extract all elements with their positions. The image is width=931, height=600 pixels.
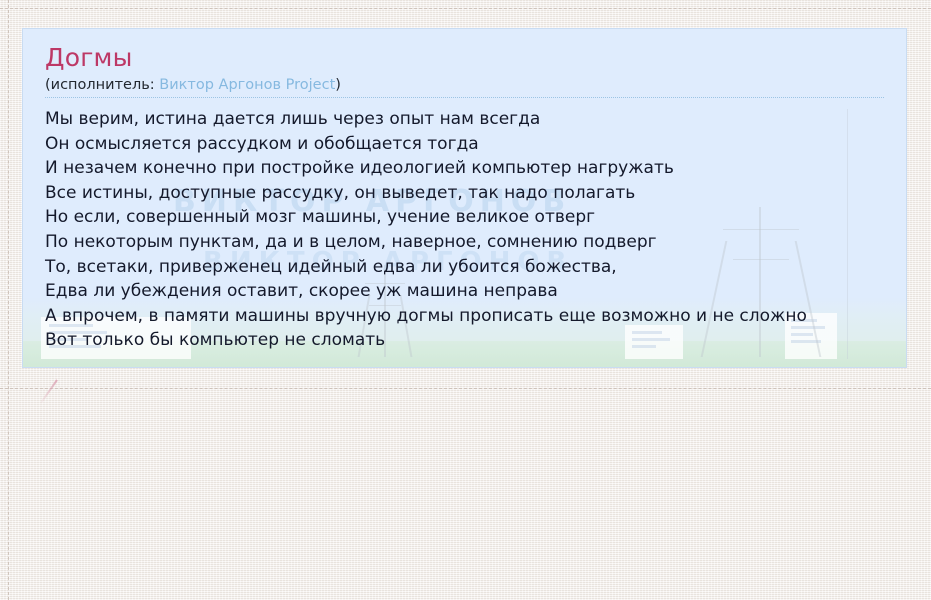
top-dashed-rule	[0, 8, 931, 9]
lyric-line: Все истины, доступные рассудку, он вывед…	[45, 181, 906, 206]
lyric-line: Едва ли убеждения оставит, скорее уж маш…	[45, 279, 906, 304]
lyric-line: То, всетаки, приверженец идейный едва ли…	[45, 255, 906, 280]
artist-link[interactable]: Виктор Аргонов Project	[159, 77, 335, 93]
lyric-line: Мы верим, истина дается лишь через опыт …	[45, 107, 906, 132]
lyric-line: Но если, совершенный мозг машины, учение…	[45, 205, 906, 230]
left-dashed-rule	[8, 0, 9, 600]
lyric-line: И незачем конечно при постройке идеологи…	[45, 156, 906, 181]
lyric-line: По некоторым пунктам, да и в целом, наве…	[45, 230, 906, 255]
song-header: Догмы (исполнитель: Виктор Аргонов Proje…	[23, 29, 906, 95]
lyric-line: А впрочем, в памяти машины вручную догмы…	[45, 304, 906, 329]
lyric-line: Он осмысляется рассудком и обобщается то…	[45, 132, 906, 157]
song-title: Догмы	[45, 43, 886, 73]
lyrics-text-block: Мы верим, истина дается лишь через опыт …	[23, 98, 906, 353]
song-lyrics-panel: Виктор Аргонов Виктор Аргонов Догмы (исп…	[22, 28, 907, 368]
artist-line: (исполнитель: Виктор Аргонов Project)	[45, 75, 886, 95]
artist-label-prefix: (исполнитель:	[45, 77, 159, 93]
artist-label-suffix: )	[335, 77, 341, 93]
bottom-dashed-rule	[0, 388, 931, 389]
lyric-line: Вот только бы компьютер не сломать	[45, 328, 906, 353]
